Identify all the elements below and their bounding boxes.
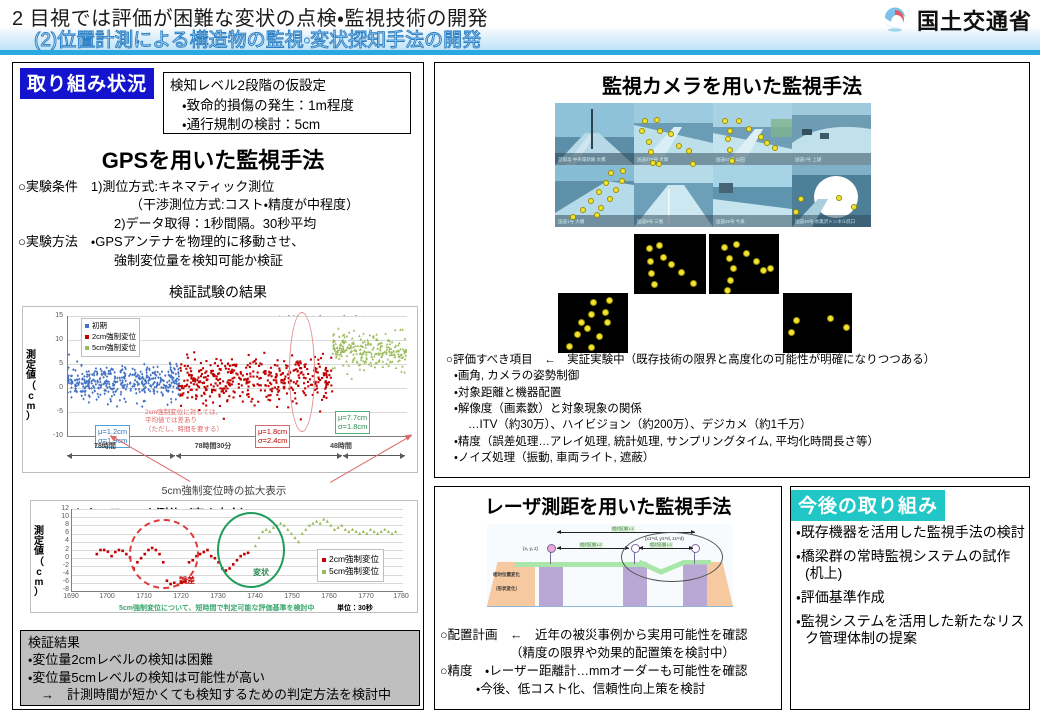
result-line3: → 計測時間が短かくても検知するための判定方法を検討中: [28, 686, 412, 703]
camera-thumbnail[interactable]: 国道9号 三瓶: [634, 165, 713, 227]
result-title: 検証結果: [28, 634, 412, 651]
pier-1: [539, 562, 563, 606]
camera-caption: 国道1号 大磯: [558, 219, 584, 225]
chart1-span-2: 48時間: [313, 441, 369, 451]
laser-section-title: レーザ測距を用いた監視手法: [440, 492, 776, 519]
chart1-legend-item-2: 5cm強制変位: [85, 343, 136, 354]
chart2-annot-deform: 変状: [253, 567, 269, 578]
chart2-legend: 2cm強制変位 5cm強制変位: [317, 549, 384, 582]
chart1-legend-item-1: 2cm強制変位: [85, 332, 136, 343]
chart1-stat-1: μ=1.8cmσ=2.4cm: [255, 425, 290, 448]
detection-level-box: 検知レベル2段階の仮設定 ・致命的損傷の発生：1m程度 ・通行規制の検討：5cm: [163, 72, 411, 134]
gps-row-1: （干渉測位方式:コスト・精度が中程度）: [18, 196, 418, 214]
future-item: ・評価基準作成: [796, 589, 1026, 607]
camera-body-0: ○評価すべき項目 ← 実証実験中（既存技術の限界と高度化の可能性が明確になりつつ…: [446, 352, 1026, 368]
chart2-annot-error: 誤差: [179, 575, 195, 586]
future-item: ・既存機器を活用した監視手法の検討: [796, 524, 1026, 542]
embankment-left: [487, 562, 535, 606]
chart1-ytick-1: 10: [45, 336, 63, 343]
dot-pattern-panel: [634, 234, 706, 294]
chart1-ylabel: 測定値（cm）: [25, 351, 37, 422]
zoom-caption: 5cm強制変位時の拡大表示: [30, 483, 418, 498]
header-rule: [0, 50, 1040, 55]
camera-thumbnail[interactable]: 国道49号 水無沢トンネル坑口: [792, 165, 871, 227]
laser-body-0: ○配置計画 ← 近年の被災事例から実用可能性を確認: [440, 626, 778, 644]
future-ribbon: 今後の取り組み: [791, 490, 945, 521]
chart2-legend-item-0: 2cm強制変位: [322, 553, 379, 565]
chart2-legend-item-1: 5cm強制変位: [322, 565, 379, 577]
laser-fig-label-main: 相対位置変化: [493, 572, 520, 578]
coord-label: (x, y, z): [523, 546, 538, 551]
verification-result-box: 検証結果 ・変位量2cmレベルの検知は困難 ・変位量5cmレベルの検知は可能性が…: [20, 630, 420, 706]
camera-evaluation-items: ○評価すべき項目 ← 実証実験中（既存技術の限界と高度化の可能性が明確になりつつ…: [446, 352, 1026, 466]
camera-thumbnail[interactable]: 国道1号 大磯: [555, 165, 634, 227]
chart1-ytick-5: -10: [41, 432, 63, 439]
laser-body: ○配置計画 ← 近年の被災事例から実用可能性を確認 （精度の限界や効果的配置策を…: [440, 626, 778, 698]
camera-caption: 首都高 中央環状線 大橋: [558, 157, 606, 163]
dim-label-L2: 相対区間 L2: [579, 542, 603, 548]
camera-thumbnail[interactable]: 国道45号 今泉: [713, 165, 792, 227]
camera-body-3: ・解像度（画素数）と対象現象の関係: [446, 401, 1026, 417]
gps-row-0: ○実験条件 1)測位方式:キネマティック測位: [18, 178, 418, 196]
camera-thumbnail[interactable]: 国道7号 上越: [792, 103, 871, 165]
dim-label-L1: 相対区間 L1: [611, 526, 635, 532]
gps-row-4: 強制変位量を検知可能か検証: [18, 252, 418, 270]
chart2-ylabel: 測定値（cm）: [33, 527, 45, 598]
camera-body-1: ・画角, カメラの姿勢制御: [446, 368, 1026, 384]
laser-fig-label-sub: （形状変化）: [493, 586, 520, 592]
chart2-unit: 単位：30秒: [337, 603, 373, 613]
sensor-reference: [547, 544, 556, 553]
verification-caption: 検証試験の結果: [18, 282, 418, 302]
camera-thumbnail[interactable]: 首都高 中央環状線 大橋: [555, 103, 634, 165]
camera-body-4: …ITV（約30万）、ハイビジョン（約200万）、デジカメ（約1千万）: [446, 417, 1026, 433]
chart1-stat-2: μ=7.7cmσ=1.8cm: [335, 411, 370, 434]
future-item: ・監視システムを活用した新たなリスク管理体制の提案: [796, 613, 1026, 648]
gps-conditions: ○実験条件 1)測位方式:キネマティック測位 （干渉測位方式:コスト・精度が中程…: [18, 178, 418, 270]
dim-L2: [557, 548, 629, 549]
slide-header: 2 目視では評価が困難な変状の点検・監視技術の開発 (2)位置計測による構造物の…: [0, 0, 1040, 56]
camera-thumbnail[interactable]: 国道45号 山田: [713, 103, 792, 165]
chart1-legend: 初期 2cm強制変位 5cm強制変位: [81, 318, 140, 357]
ministry-name: 国土交通省: [917, 4, 1032, 36]
chart1-ytick-3: 0: [45, 384, 63, 391]
dot-pattern-panel: [558, 293, 628, 353]
future-item: ・橋梁群の常時監視システムの試作(机上): [796, 548, 1026, 583]
camera-caption: 国道45号 今泉: [716, 219, 745, 225]
chart1-highlight-ellipse: [289, 312, 315, 432]
chart1-ytick-4: -5: [45, 408, 63, 415]
gps-row-2: 2)データ取得：1秒間隔。30秒平均: [18, 215, 418, 233]
detection-level-line2: ・致命的損傷の発生：1m程度: [170, 96, 404, 116]
detection-level-line3: ・通行規制の検討：5cm: [170, 115, 404, 135]
gps-row-3: ○実験方法 ・GPSアンテナを物理的に移動させ、: [18, 233, 418, 251]
chart-kinematic-full: 測定値（cm） キネマティック測位（高さ方向） 15 10 5 0 -5 -10…: [22, 306, 418, 473]
camera-caption: 国道49号 水無沢トンネル坑口: [795, 219, 855, 225]
gps-section-title: GPSを用いた監視手法: [48, 143, 378, 175]
laser-body-3: ・今後、低コスト化、信頼性向上策を検討: [440, 680, 778, 698]
chart1-span-1: 78時間30分: [173, 441, 253, 451]
camera-caption: 国道9号 三瓶: [637, 219, 663, 225]
result-line2: ・変位量5cmレベルの検知は可能性が高い: [28, 669, 412, 686]
dot-pattern-panel: [783, 293, 852, 353]
laser-diagram: 相対区間 L1 相対区間 L2 相対区間 L3 (x, y, z) (x1=d,…: [487, 524, 733, 607]
slide-root: 2 目視では評価が困難な変状の点検・監視技術の開発 (2)位置計測による構造物の…: [0, 0, 1040, 720]
laser-highlight-ellipse: [621, 532, 723, 582]
result-line1: ・変位量2cmレベルの検知は困難: [28, 651, 412, 668]
ministry-emblem-icon: [881, 6, 909, 34]
detection-level-line1: 検知レベル2段階の仮設定: [170, 76, 404, 96]
ministry-logo: 国土交通省: [881, 4, 1032, 36]
laser-body-1: （精度の限界や効果的配置策を検討中）: [440, 644, 778, 662]
camera-body-2: ・対象距離と機器配置: [446, 385, 1026, 401]
status-ribbon: 取り組み状況: [20, 68, 154, 99]
chart-kinematic-zoom: 測定値（cm） キネマティック測位（高さ方向） 12 10 8 6 4 2 0 …: [30, 500, 418, 613]
page-subtitle: (2)位置計測による構造物の監視・変状探知手法の開発: [34, 25, 481, 52]
camera-caption: 国道7号 上越: [795, 157, 821, 163]
chart2-footnote: 5cm強制変位について、短時間で判定可能な評価基準を検討中: [119, 603, 314, 613]
camera-body-5: ・精度（誤差処理…アレイ処理, 統計処理, サンプリングタイム, 平均化時間長さ…: [446, 434, 1026, 450]
chart1-span-arrow-0: [67, 455, 175, 456]
future-items-list: ・既存機器を活用した監視手法の検討 ・橋梁群の常時監視システムの試作(机上) ・…: [796, 524, 1026, 654]
chart1-annotation: 2cm強制変位に対しては、平均値では差あり（ただし、時間を要する）: [145, 409, 223, 434]
laser-body-2: ○精度 ・レーザー距離計…mmオーダーも可能性を確認: [440, 662, 778, 680]
chart1-span-arrow-1: [176, 455, 342, 456]
chart2-deform-ellipse: [217, 512, 285, 588]
camera-body-6: ・ノイズ処理（振動, 車両ライト, 遮蔽）: [446, 450, 1026, 466]
chart1-legend-item-0: 初期: [85, 321, 136, 332]
chart1-ytick-0: 15: [45, 312, 63, 319]
camera-section-title: 監視カメラを用いた監視手法: [434, 70, 1030, 99]
chart1-ytick-2: 5: [45, 360, 63, 367]
dot-pattern-panel: [709, 234, 779, 294]
